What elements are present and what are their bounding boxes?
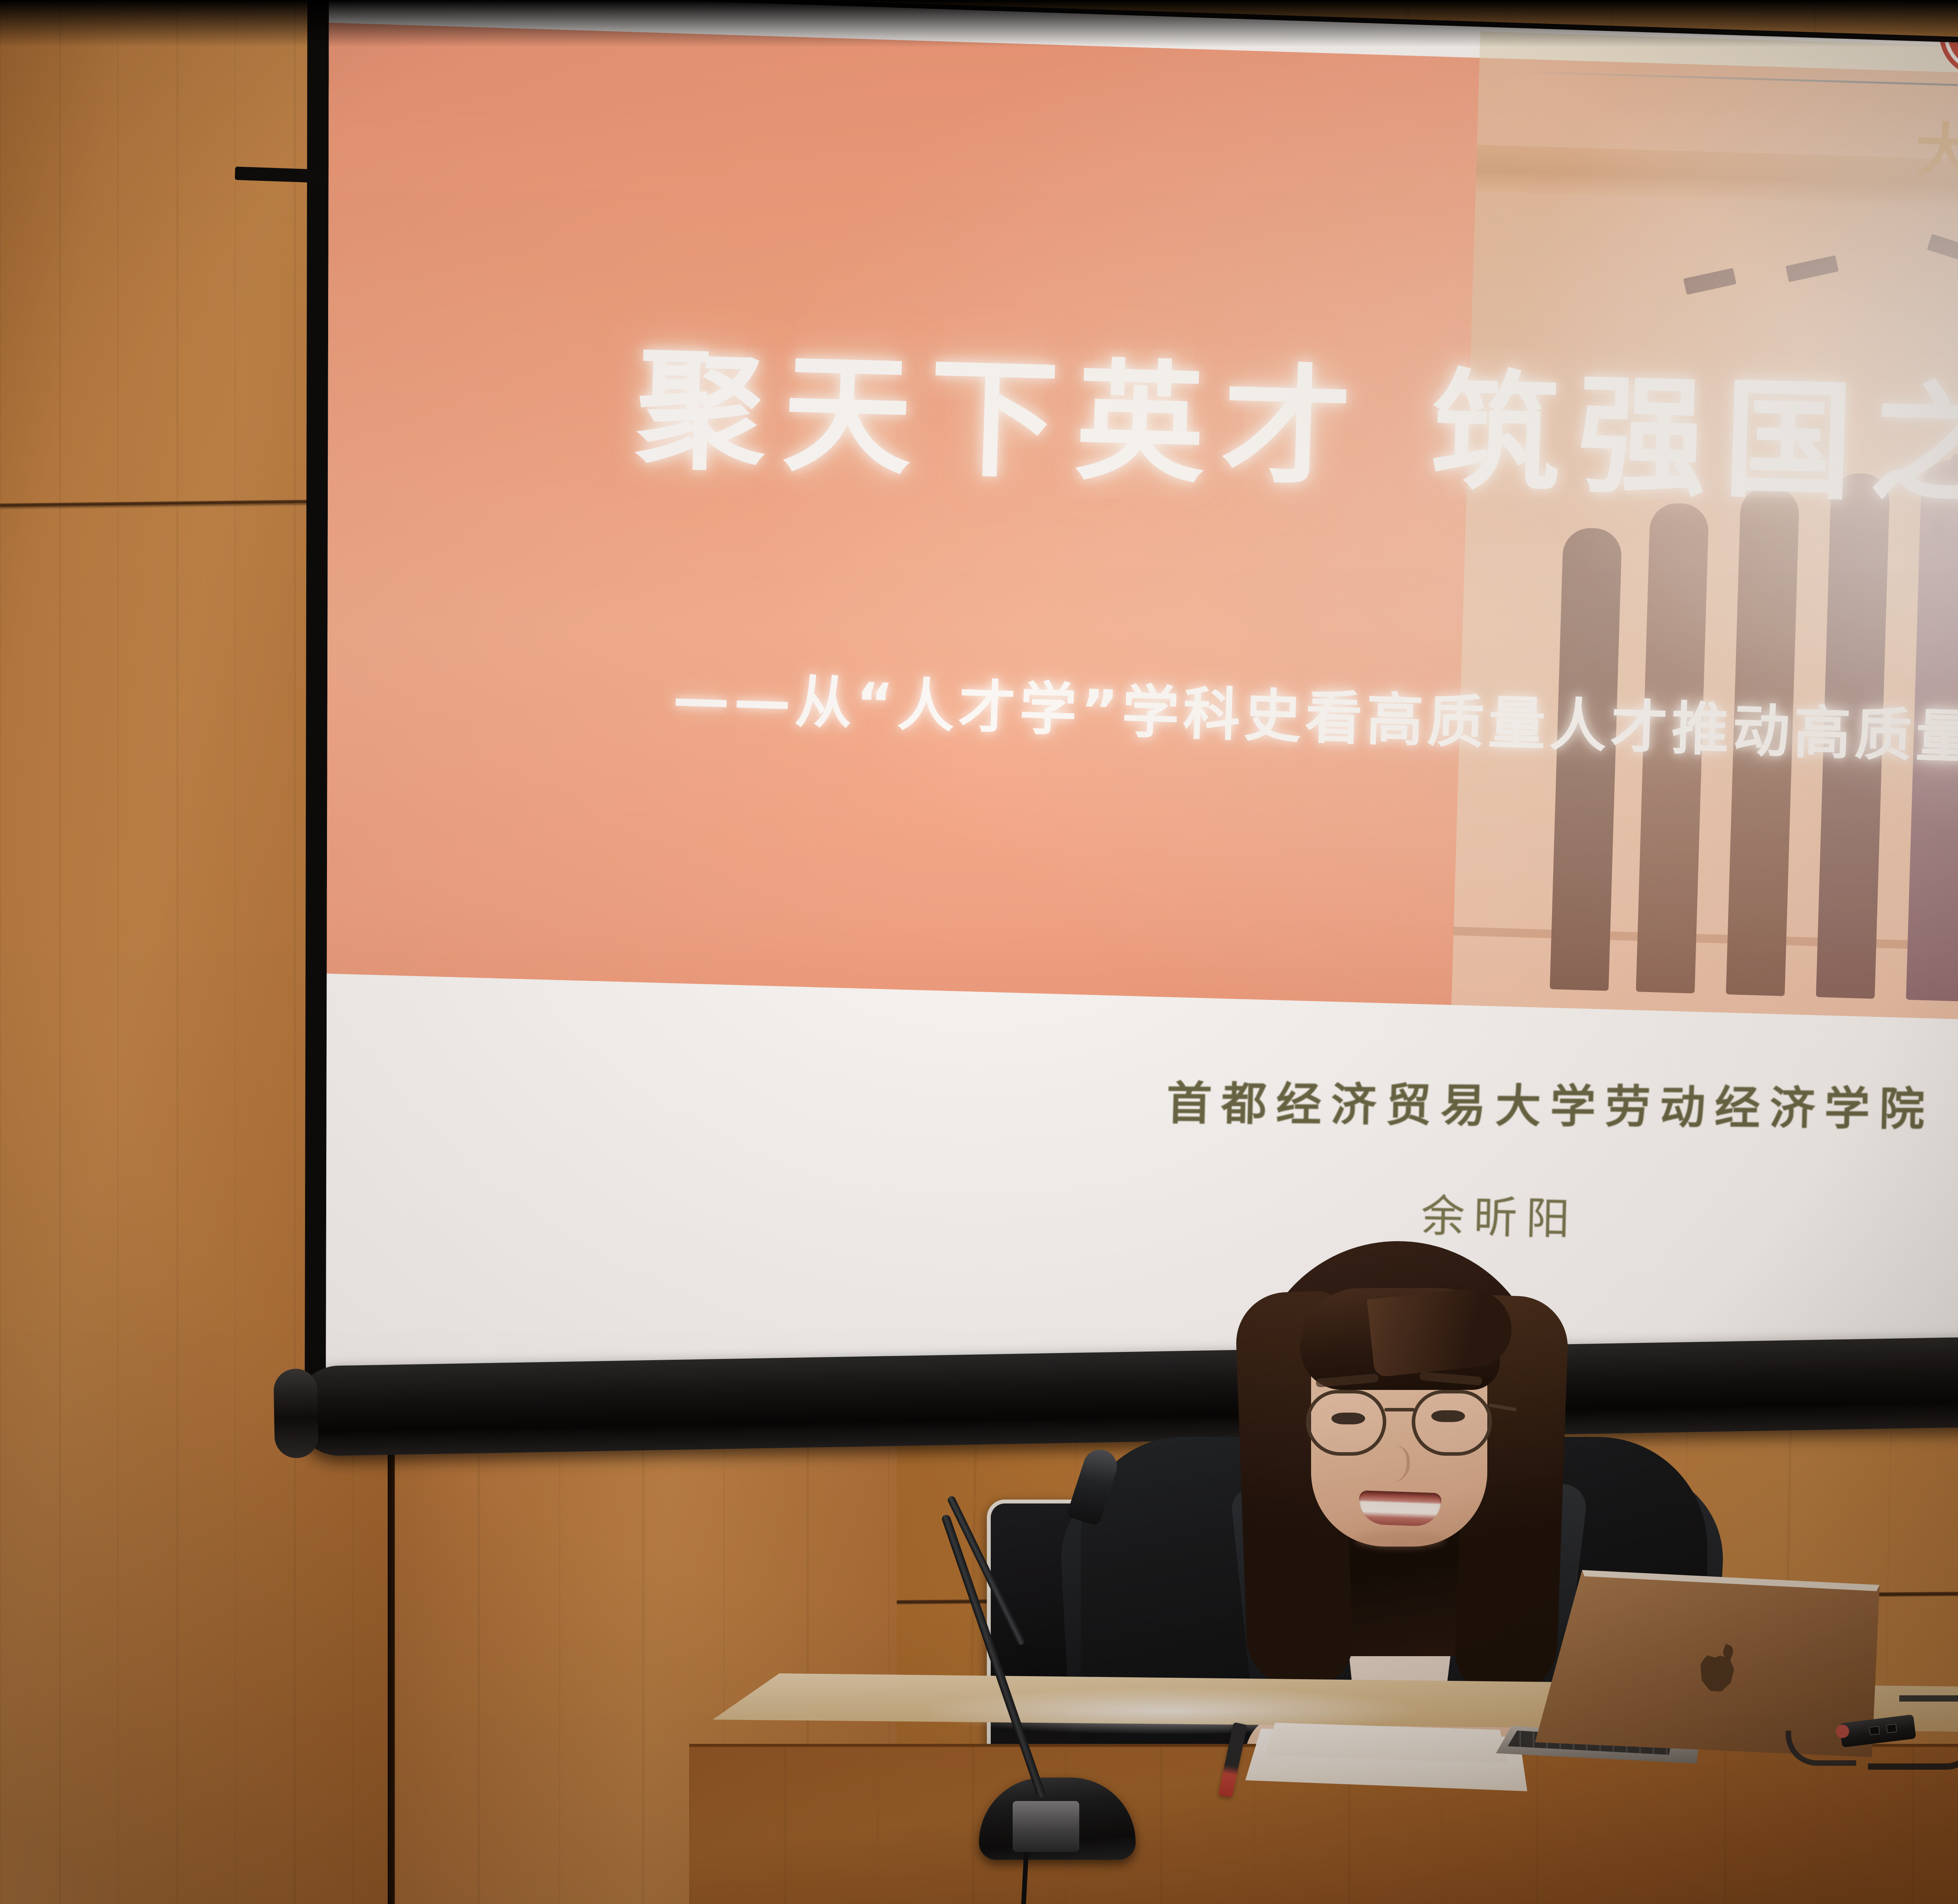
dongle-port <box>1869 1725 1880 1735</box>
dongle-port <box>1886 1724 1897 1733</box>
roller-end-cap-left <box>273 1368 319 1458</box>
slide-title-part2: 筑强国之基 <box>1429 355 1958 526</box>
photo-gold-char-1: 大 <box>1915 103 1958 189</box>
slide-title-part1: 聚天下英才 <box>634 333 1371 505</box>
microphone-cable <box>1001 1852 1029 1904</box>
slide-presenter-name: 余昕阳 <box>1420 1194 1579 1242</box>
microphone-capsule <box>1066 1445 1122 1526</box>
microphone-base-plate <box>1013 1801 1079 1852</box>
gooseneck-microphone[interactable] <box>979 1449 1277 1904</box>
eyeglass-lens-left <box>1306 1390 1386 1456</box>
graduation-ceremony-photo: 大 學 <box>1450 31 1958 1067</box>
dongle-cable-right <box>1899 1695 1958 1742</box>
laptop-power-cable <box>1868 1738 1958 1770</box>
title-spacer <box>1367 474 1430 476</box>
slide-main-title: 聚天下英才筑强国之基 <box>634 345 1958 515</box>
lecture-hall-scene: 大 學 <box>0 0 1958 1904</box>
slide-affiliation: 首都经济贸易大学劳动经济学院 <box>1166 1081 1935 1132</box>
eyeglass-bridge <box>1384 1408 1415 1411</box>
presentation-slide: 大 學 <box>235 0 1958 1425</box>
chin-shadow <box>1355 1531 1445 1549</box>
eyeglass-lens-right <box>1412 1390 1492 1456</box>
projection-screen-surface: 大 學 <box>235 0 1958 1425</box>
